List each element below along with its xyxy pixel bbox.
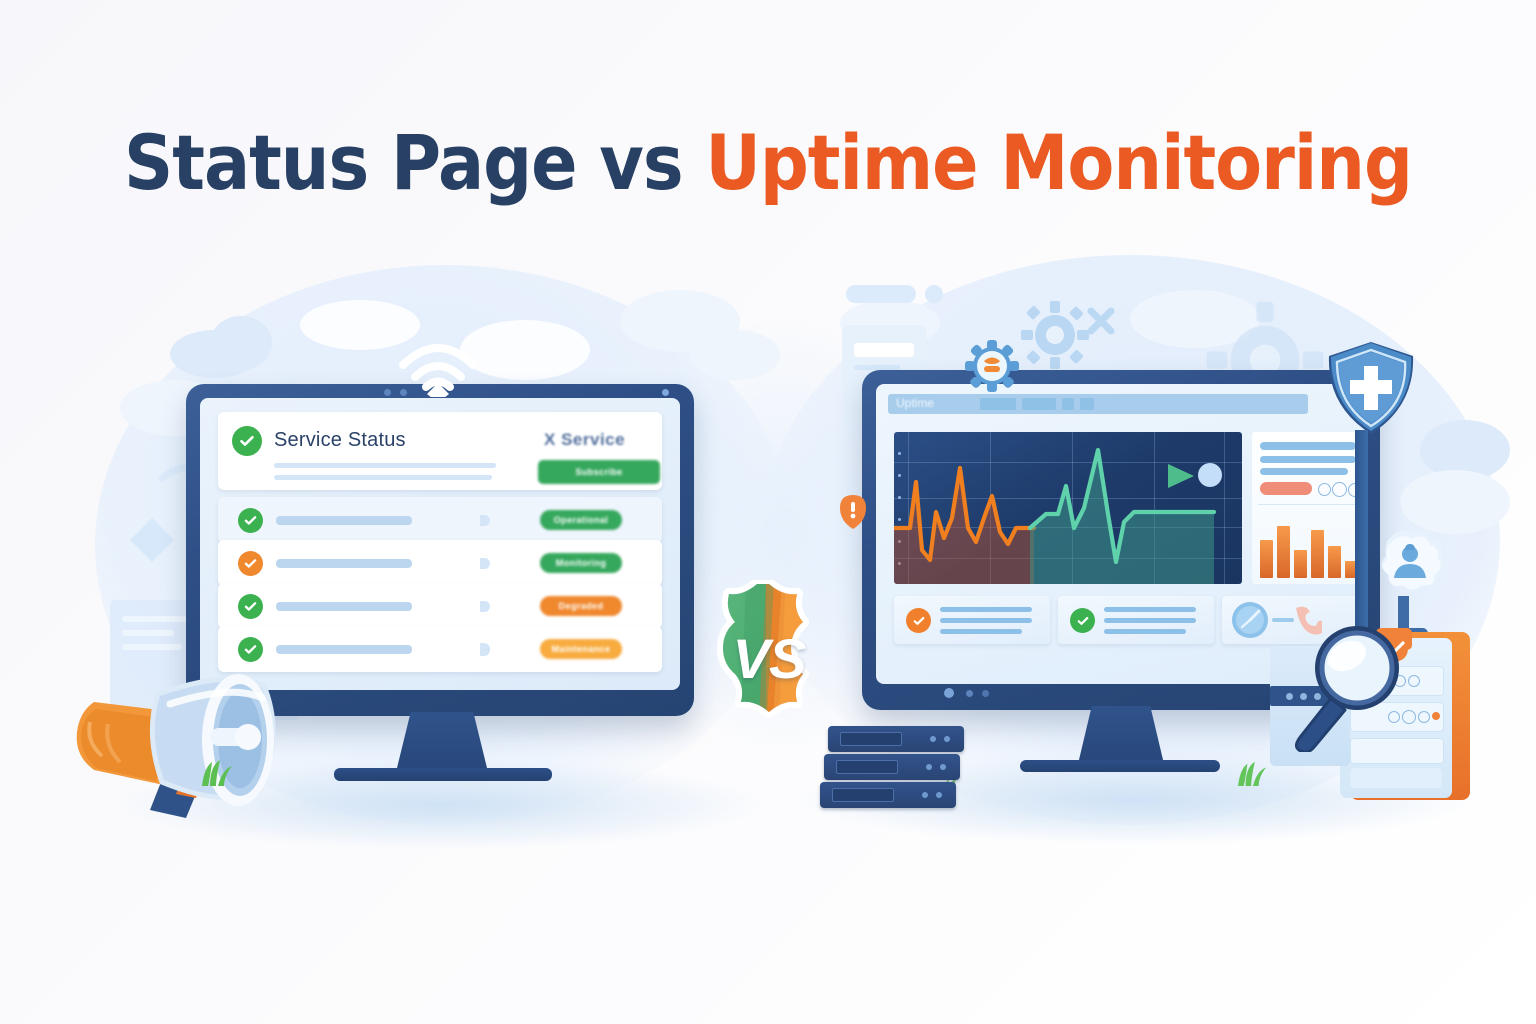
monitor-indicator-dot [982, 690, 989, 697]
card-line [940, 607, 1032, 612]
placeholder-bar [480, 515, 490, 526]
status-badge: Operational [540, 510, 622, 530]
server-rack [820, 726, 970, 810]
sidebar-divider [1258, 504, 1358, 505]
topbar-segment [1022, 398, 1056, 410]
grass-decoration [196, 756, 240, 786]
shield-cross-icon [1325, 340, 1417, 450]
sidebar-ring-icon [1318, 483, 1331, 496]
placeholder-bar [274, 463, 496, 468]
bar-item [1294, 550, 1307, 578]
card-line [1104, 607, 1196, 612]
triangle-marker-icon [1168, 464, 1194, 488]
server-led [940, 764, 946, 770]
speed-gauge-icon [1228, 598, 1272, 642]
clipboard-ring-icon [1418, 711, 1430, 723]
settings-badge-icon [965, 340, 1019, 392]
series-green-area [1030, 450, 1214, 584]
card-line [1104, 629, 1186, 634]
monitor-camera-dot [662, 389, 669, 396]
topbar-title-ghost: Uptime [896, 396, 934, 410]
response-time-chart [894, 432, 1242, 584]
placeholder-bar [276, 602, 412, 611]
dashboard-sidebar [1252, 432, 1366, 584]
server-led [922, 792, 928, 798]
brand-prefix: X [544, 430, 556, 449]
check-circle-green-icon [238, 594, 263, 619]
alert-pin-icon [840, 495, 866, 529]
placeholder-bar [480, 643, 490, 656]
background-close-icon [1085, 305, 1117, 337]
server-slot [832, 788, 894, 802]
wifi-icon [395, 335, 481, 397]
topbar-segment [1080, 398, 1094, 410]
monitor-stand-base-right [1020, 760, 1220, 772]
card-line [940, 629, 1022, 634]
status-row[interactable]: Degraded [218, 583, 662, 629]
title-part-status-page: Status Page vs [124, 118, 705, 207]
dashboard-card[interactable] [1058, 596, 1214, 644]
avatar-icon [1372, 528, 1448, 602]
monitor-stand-base-left [334, 768, 552, 781]
server-unit [828, 726, 964, 752]
check-circle-green-icon [232, 426, 262, 456]
dashboard-topbar: Uptime [888, 394, 1308, 414]
monitor-indicator-dot [384, 389, 391, 396]
monitor-indicator-dot [944, 688, 954, 698]
server-led [926, 764, 932, 770]
illustration-canvas: Status Page vs Uptime Monitoring [0, 0, 1536, 1024]
vs-badge-label: VS [686, 580, 852, 736]
subscribe-badge[interactable]: Subscribe [538, 460, 660, 484]
title-part-uptime-monitoring: Uptime Monitoring [705, 118, 1412, 207]
server-led [930, 736, 936, 742]
server-led [936, 792, 942, 798]
server-slot [840, 732, 902, 746]
monitor-stand-neck-right [1078, 706, 1164, 764]
placeholder-bar [274, 475, 492, 480]
megaphone-icon [60, 630, 300, 830]
clipboard-row [1350, 768, 1442, 788]
sidebar-line [1260, 456, 1356, 463]
status-badge: Degraded [540, 596, 622, 616]
sidebar-line [1260, 468, 1348, 475]
bar-item [1311, 530, 1324, 578]
grass-decoration [1230, 758, 1276, 786]
status-row[interactable]: Operational [218, 497, 662, 543]
vs-badge: VS [686, 580, 852, 736]
status-badge: Monitoring [540, 553, 622, 573]
status-row[interactable]: Monitoring [218, 540, 662, 586]
chart-series-svg [894, 432, 1242, 584]
cloud-decoration [690, 330, 780, 380]
magnifier-icon [1283, 612, 1413, 752]
page-title: Status Page vs Uptime Monitoring [0, 118, 1536, 207]
monitor-stand-neck-left [396, 712, 488, 772]
cloud-decoration [210, 316, 272, 370]
bar-item [1328, 546, 1341, 578]
status-badge: Maintenance [540, 639, 622, 659]
server-unit [824, 754, 960, 780]
dashboard-card[interactable] [894, 596, 1050, 644]
card-line [940, 618, 1032, 623]
status-page-header-card: Service Status X Service Subscribe [218, 412, 662, 490]
card-line [1104, 618, 1196, 623]
bar-item [1260, 540, 1273, 578]
placeholder-bar [480, 558, 490, 569]
monitor-indicator-dot [966, 690, 973, 697]
server-slot [836, 760, 898, 774]
sidebar-bar-chart [1258, 516, 1362, 578]
server-unit [820, 782, 956, 808]
sidebar-alert-pill [1260, 482, 1312, 495]
cloud-decoration [1400, 470, 1510, 534]
brand-logo-ghost: X Service [544, 430, 625, 450]
check-circle-green-icon [1070, 608, 1095, 633]
topbar-segment [980, 398, 1016, 410]
dot-marker-icon [1198, 463, 1222, 487]
background-gear-icon [1020, 300, 1090, 370]
bar-item [1277, 526, 1290, 578]
server-led [944, 736, 950, 742]
status-page-title: Service Status [274, 429, 406, 452]
check-circle-orange-icon [238, 551, 263, 576]
clipboard-led [1432, 712, 1440, 720]
sidebar-ring-icon [1332, 482, 1347, 497]
topbar-segment [1062, 398, 1074, 410]
check-circle-orange-icon [906, 608, 931, 633]
check-circle-green-icon [238, 508, 263, 533]
placeholder-bar [276, 516, 412, 525]
brand-name: Service [561, 430, 625, 449]
placeholder-bar [480, 601, 490, 612]
placeholder-bar [276, 559, 412, 568]
